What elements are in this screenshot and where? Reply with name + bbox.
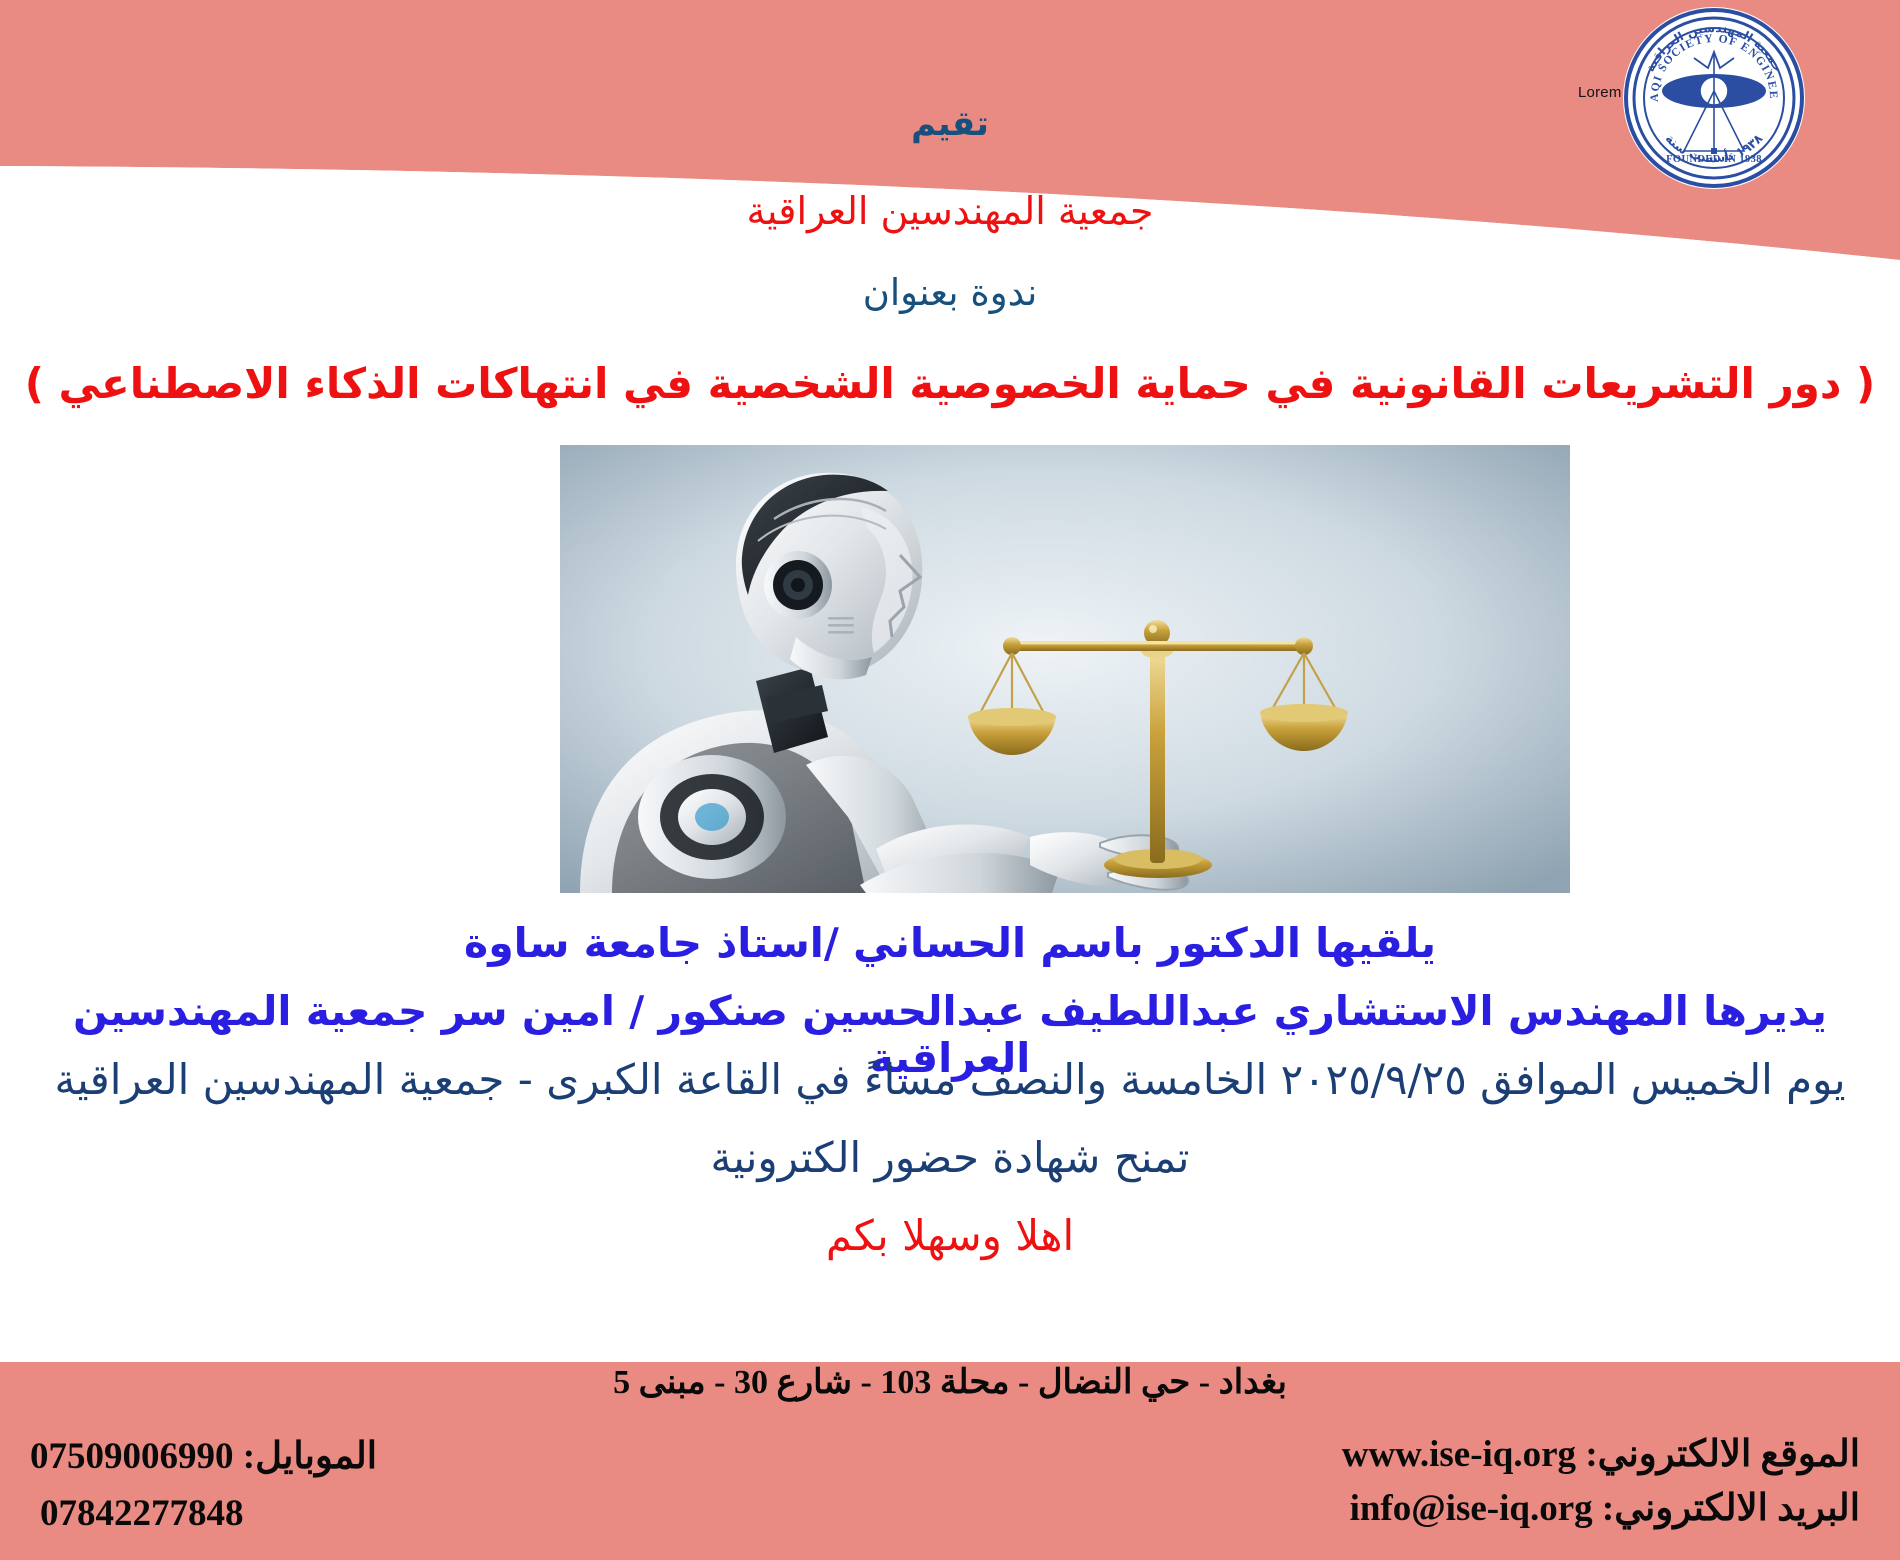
organization-logo: جمعية المهندسين العراقية IRAQI SOCIETY O…: [1622, 6, 1806, 190]
seminar-title: ( دور التشريعات القانونية في حماية الخصو…: [0, 360, 1900, 408]
speaker-line: يلقيها الدكتور باسم الحساني /استاذ جامعة…: [0, 920, 1900, 967]
email-row: البريد الالكتروني: info@ise-iq.org: [1342, 1482, 1860, 1536]
hosts-label: تقيم: [0, 105, 1900, 144]
footer-address: بغداد - حي النضال - محلة 103 - شارع 30 -…: [0, 1362, 1900, 1402]
mobile-row-2: 07842277848: [30, 1485, 377, 1542]
event-type-label: ندوة بعنوان: [0, 272, 1900, 315]
poster-page: Lorem Ipsum جمعية المهندسين العراقية IRA…: [0, 0, 1900, 1560]
email-label: البريد الالكتروني:: [1602, 1488, 1860, 1529]
mobile-value-1[interactable]: 07509006990: [30, 1428, 234, 1485]
footer-phone-contacts: الموبايل: 07509006990 07842277848: [30, 1428, 377, 1543]
certificate-line: تمنح شهادة حضور الكترونية: [0, 1134, 1900, 1182]
organization-name: جمعية المهندسين العراقية: [0, 190, 1900, 234]
website-label: الموقع الالكتروني:: [1585, 1434, 1860, 1475]
mobile-row-1: الموبايل: 07509006990: [30, 1428, 377, 1485]
email-value[interactable]: info@ise-iq.org: [1350, 1488, 1593, 1529]
svg-text:FOUNDED IN 1938: FOUNDED IN 1938: [1666, 154, 1762, 165]
website-row: الموقع الالكتروني: www.ise-iq.org: [1342, 1428, 1860, 1482]
mobile-value-2[interactable]: 07842277848: [40, 1485, 244, 1542]
footer-web-contacts: الموقع الالكتروني: www.ise-iq.org البريد…: [1342, 1428, 1860, 1535]
datetime-venue-line: يوم الخميس الموافق ٢٠٢٥/٩/٢٥ الخامسة وال…: [0, 1056, 1900, 1104]
footer-contact-block: الموقع الالكتروني: www.ise-iq.org البريد…: [0, 1420, 1900, 1560]
mobile-label: الموبايل:: [243, 1436, 377, 1477]
website-value[interactable]: www.ise-iq.org: [1342, 1434, 1576, 1475]
welcome-line: اهلا وسهلا بكم: [0, 1212, 1900, 1260]
robot-justice-image: [560, 445, 1570, 893]
poster-content: تقيم جمعية المهندسين العراقية ندوة بعنوا…: [0, 0, 1900, 1330]
